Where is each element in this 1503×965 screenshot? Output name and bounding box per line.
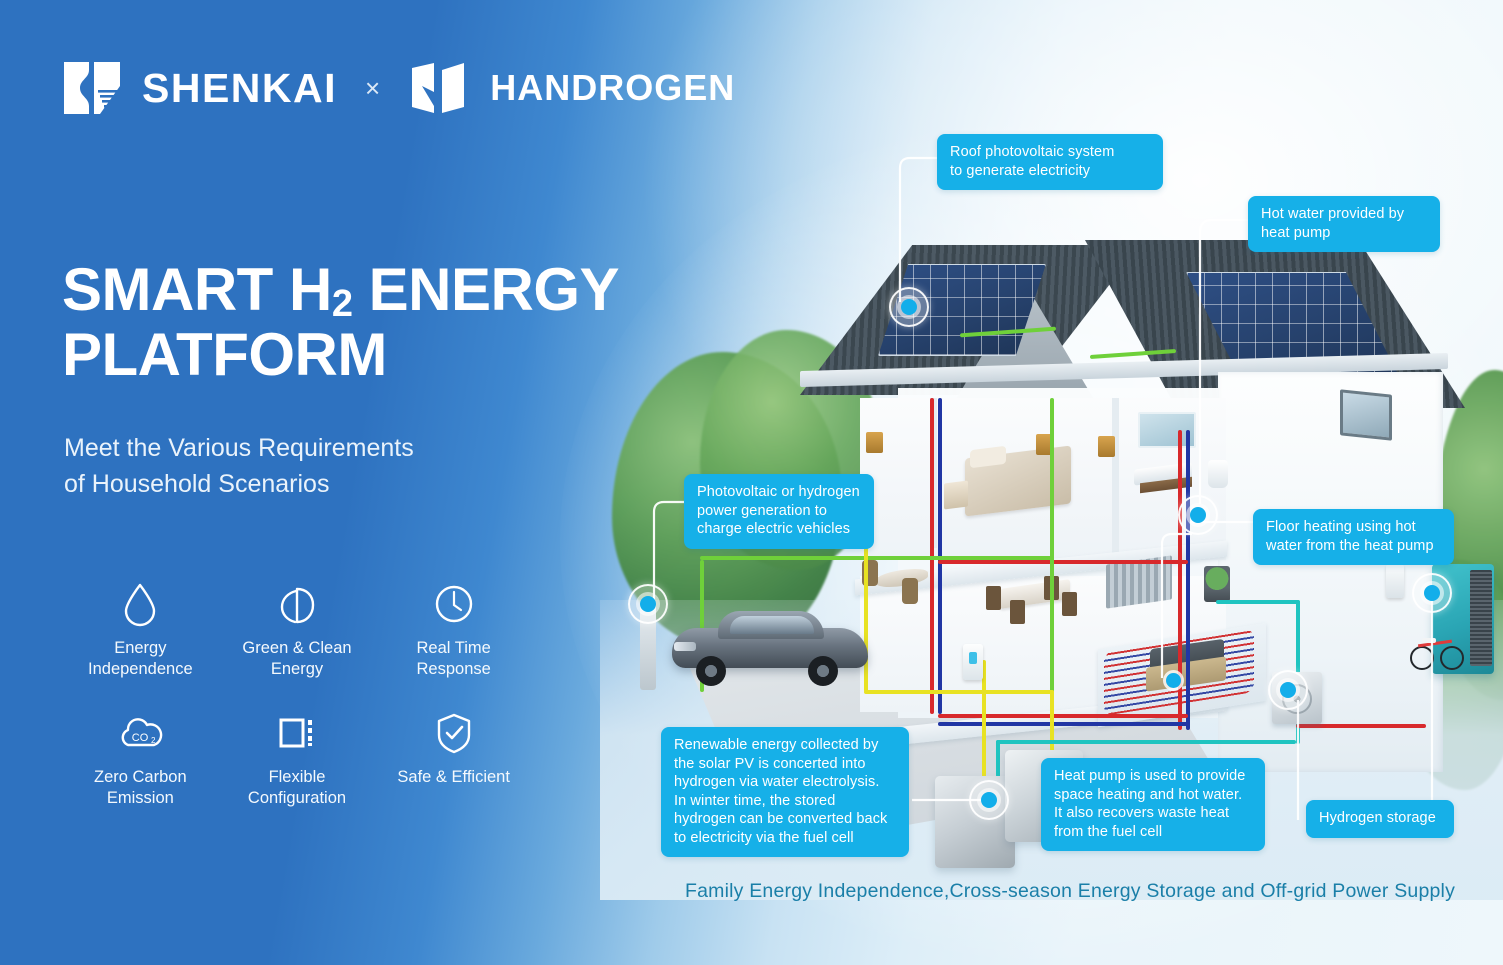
water-drop-icon bbox=[62, 580, 219, 628]
pipe-cold-water bbox=[938, 722, 1188, 726]
feature-label: Energy Independence bbox=[62, 638, 219, 681]
callout-roof-pv[interactable]: Roof photovoltaic system to generate ele… bbox=[937, 134, 1163, 190]
hotspot-heat-pump[interactable] bbox=[1268, 670, 1308, 710]
brand-separator: × bbox=[365, 73, 380, 104]
brand-name-handrogen: HANDROGEN bbox=[490, 67, 735, 109]
leaf-icon bbox=[219, 580, 376, 628]
feature-label: Real Time Response bbox=[375, 638, 532, 681]
pipe-electric bbox=[1050, 398, 1054, 698]
infographic-poster: Roof photovoltaic system to generate ele… bbox=[0, 0, 1503, 965]
pipe-electric bbox=[700, 556, 1052, 560]
bicycle bbox=[1410, 632, 1466, 672]
feature-safe-efficient: Safe & Efficient bbox=[375, 709, 532, 810]
pipe-hot-water bbox=[1296, 724, 1426, 728]
page-subtitle: Meet the Various Requirements of Househo… bbox=[64, 430, 414, 503]
pipe-heat bbox=[1216, 600, 1300, 604]
brand-name-shenkai: SHENKAI bbox=[142, 65, 337, 112]
potted-plant bbox=[1204, 566, 1230, 602]
hotspot-hydrogen-storage[interactable] bbox=[1412, 573, 1452, 613]
handrogen-logo-icon bbox=[408, 62, 470, 114]
dining-chair bbox=[1062, 592, 1077, 616]
feature-zero-carbon-emission: CO 2 Zero Carbon Emission bbox=[62, 709, 219, 810]
subtitle-line-2: of Household Scenarios bbox=[64, 466, 414, 502]
electric-car bbox=[672, 608, 868, 680]
wall-lamp bbox=[1098, 436, 1115, 457]
hotspot-roof-pv[interactable] bbox=[889, 287, 929, 327]
brand-lockup: SHENKAI × HANDROGEN bbox=[62, 60, 735, 116]
callout-floor-heating[interactable]: Floor heating using hot water from the h… bbox=[1253, 509, 1454, 565]
pipe-hot-water bbox=[938, 560, 1188, 564]
feature-grid: Energy Independence Green & Clean Energy… bbox=[62, 580, 532, 810]
title-subscript: 2 bbox=[332, 283, 353, 325]
co2-cloud-icon: CO 2 bbox=[62, 709, 219, 757]
hotspot-hot-water[interactable] bbox=[1178, 495, 1218, 535]
subtitle-line-1: Meet the Various Requirements bbox=[64, 430, 414, 466]
pipe-hydrogen bbox=[982, 660, 986, 790]
patio-chair bbox=[902, 578, 918, 604]
feature-label: Green & Clean Energy bbox=[219, 638, 376, 681]
callout-electrolysis[interactable]: Renewable energy collected by the solar … bbox=[661, 727, 909, 857]
hotspot-ev-charging[interactable] bbox=[628, 584, 668, 624]
feature-real-time-response: Real Time Response bbox=[375, 580, 532, 681]
pipe-heat bbox=[996, 740, 1296, 744]
wallbox-indicator bbox=[969, 652, 977, 664]
page-title: SMART H2 ENERGY PLATFORM bbox=[62, 258, 619, 388]
svg-text:CO: CO bbox=[132, 732, 149, 744]
shenkai-logo-icon bbox=[62, 60, 122, 116]
feature-green-clean-energy: Green & Clean Energy bbox=[219, 580, 376, 681]
title-part-1: SMART H bbox=[62, 256, 332, 323]
shield-check-icon bbox=[375, 709, 532, 757]
cabinet-vent bbox=[1470, 570, 1492, 666]
pipe-hot-water bbox=[938, 714, 1188, 718]
title-part-2: ENERGY bbox=[352, 256, 619, 323]
hotspot-electrolysis[interactable] bbox=[969, 780, 1009, 820]
pipe-cold-water bbox=[1186, 430, 1190, 730]
callout-ev-charging[interactable]: Photovoltaic or hydrogen power generatio… bbox=[684, 474, 874, 549]
house-wall-right bbox=[1218, 372, 1443, 772]
footer-caption: Family Energy Independence,Cross-season … bbox=[660, 880, 1480, 903]
modules-icon bbox=[219, 709, 376, 757]
interior-wall bbox=[1112, 398, 1119, 560]
callout-hydrogen-storage[interactable]: Hydrogen storage bbox=[1306, 800, 1454, 838]
exterior-window bbox=[1340, 389, 1392, 440]
dining-chair bbox=[1010, 600, 1025, 624]
wall-lamp bbox=[866, 432, 883, 453]
feature-energy-independence: Energy Independence bbox=[62, 580, 219, 681]
callout-heat-pump[interactable]: Heat pump is used to provide space heati… bbox=[1041, 758, 1265, 851]
feature-flexible-configuration: Flexible Configuration bbox=[219, 709, 376, 810]
feature-label: Zero Carbon Emission bbox=[62, 767, 219, 810]
title-line-2: PLATFORM bbox=[62, 323, 619, 388]
pipe-hydrogen bbox=[864, 690, 1054, 694]
svg-text:2: 2 bbox=[151, 736, 156, 745]
hotspot-floor-heating[interactable] bbox=[1160, 667, 1186, 693]
feature-label: Safe & Efficient bbox=[375, 767, 532, 788]
dining-chair bbox=[986, 586, 1001, 610]
clock-icon bbox=[375, 580, 532, 628]
callout-hot-water[interactable]: Hot water provided by heat pump bbox=[1248, 196, 1440, 252]
toilet bbox=[1208, 460, 1228, 488]
feature-label: Flexible Configuration bbox=[219, 767, 376, 810]
ev-charger-wall-unit bbox=[1386, 564, 1404, 598]
nightstand bbox=[944, 481, 968, 510]
